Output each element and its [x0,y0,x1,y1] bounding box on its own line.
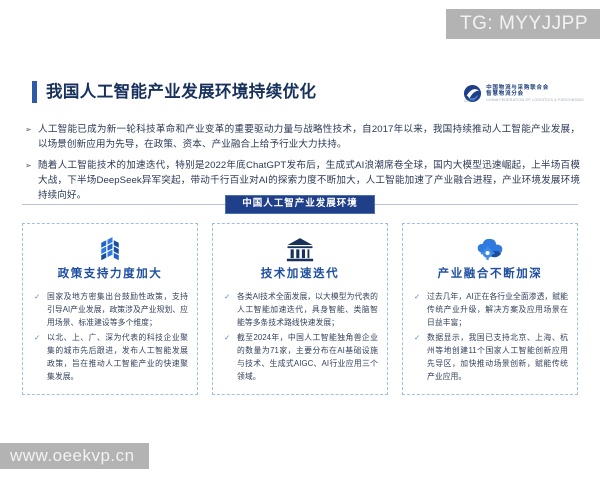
card-bullet-item: ✓ 各类AI技术全面发展，以大模型为代表的人工智能加速迭代，具身智能、类脑智能等… [222,290,378,329]
logo-line-2: 智慧物流分会 [486,91,584,97]
card-bullet-item: ✓ 国家及地方密集出台鼓励性政策，支持引导AI产业发展，政策涉及产业规划、应用场… [32,290,188,329]
watermark-top-right: TG: MYYJJPP [446,9,600,39]
card-bullet-text: 国家及地方密集出台鼓励性政策，支持引导AI产业发展，政策涉及产业规划、应用场景、… [47,290,188,329]
card-industry-integration: 产业融合不断加深 ✓ 过去几年，AI正在各行业全面渗透，赋能传统产业升级，解决方… [402,223,578,395]
title-accent-bar [32,81,37,103]
cloud-gear-icon [474,234,506,264]
slide-header: 我国人工智能产业发展环境持续优化 [32,81,316,103]
card-row: 政策支持力度加大 ✓ 国家及地方密集出台鼓励性政策，支持引导AI产业发展，政策涉… [22,223,578,395]
card-bullet-list: ✓ 各类AI技术全面发展，以大模型为代表的人工智能加速迭代，具身智能、类脑智能等… [222,290,378,387]
card-bullet-item: ✓ 数据显示，我国已支持北京、上海、杭州等地创建11个国家人工智能创新应用先导区… [412,331,568,383]
bullet-arrow-icon: ➢ [24,158,38,173]
rubiks-cube-icon [95,234,125,264]
page-title: 我国人工智能产业发展环境持续优化 [46,84,316,101]
watermark-bottom-left: www.oeekvp.cn [0,443,149,469]
slide-canvas: 我国人工智能产业发展环境持续优化 中国物流与采购联合会 智慧物流分会 CHINA… [0,0,600,480]
logo-abbreviation: CFLP [464,99,475,103]
card-bullet-text: 过去几年，AI正在各行业全面渗透，赋能传统产业升级，解决方案及应用场景在日益丰富… [427,290,568,329]
card-bullet-list: ✓ 国家及地方密集出台鼓励性政策，支持引导AI产业发展，政策涉及产业规划、应用场… [32,290,188,387]
bank-building-icon [285,234,315,264]
card-bullet-list: ✓ 过去几年，AI正在各行业全面渗透，赋能传统产业升级，解决方案及应用场景在日益… [412,290,568,387]
card-bullet-item: ✓ 以北、上、广、深为代表的科技企业聚集的城市先后跟进，发布人工智能发展政策，旨… [32,331,188,383]
check-icon: ✓ [412,331,427,344]
banner-rule-right [375,204,578,205]
card-title: 产业融合不断加深 [438,269,543,281]
check-icon: ✓ [32,331,47,344]
logo-text-block: 中国物流与采购联合会 智慧物流分会 CHINA FEDERATION OF LO… [486,85,584,103]
check-icon: ✓ [222,290,237,303]
card-title: 政策支持力度加大 [58,269,163,281]
check-icon: ✓ [222,331,237,344]
card-bullet-text: 截至2024年，中国人工智能独角兽企业的数量为71家，主要分布在AI基础设施与技… [237,331,378,383]
card-title: 技术加速迭代 [261,269,340,281]
card-bullet-text: 各类AI技术全面发展，以大模型为代表的人工智能加速迭代，具身智能、类脑智能等多条… [237,290,378,329]
card-bullet-item: ✓ 过去几年，AI正在各行业全面渗透，赋能传统产业升级，解决方案及应用场景在日益… [412,290,568,329]
check-icon: ✓ [412,290,427,303]
section-banner: 中国人工智产业发展环境 [0,195,600,214]
intro-bullet-item: ➢ 人工智能已成为新一轮科技革命和产业变革的重要驱动力量与战略性技术，自2017… [24,122,580,152]
logo-line-3: CHINA FEDERATION OF LOGISTICS & PURCHASI… [486,98,584,102]
card-bullet-text: 以北、上、广、深为代表的科技企业聚集的城市先后跟进，发布人工智能发展政策，旨在推… [47,331,188,383]
check-icon: ✓ [32,290,47,303]
banner-rule-left [22,204,225,205]
card-tech-iteration: 技术加速迭代 ✓ 各类AI技术全面发展，以大模型为代表的人工智能加速迭代，具身智… [212,223,388,395]
card-bullet-item: ✓ 截至2024年，中国人工智能独角兽企业的数量为71家，主要分布在AI基础设施… [222,331,378,383]
card-bullet-text: 数据显示，我国已支持北京、上海、杭州等地创建11个国家人工智能创新应用先导区，加… [427,331,568,383]
intro-paragraph: 人工智能已成为新一轮科技革命和产业变革的重要驱动力量与战略性技术，自2017年以… [38,122,580,152]
banner-label: 中国人工智产业发展环境 [225,195,375,214]
card-policy-support: 政策支持力度加大 ✓ 国家及地方密集出台鼓励性政策，支持引导AI产业发展，政策涉… [22,223,198,395]
organization-logo: 中国物流与采购联合会 智慧物流分会 CHINA FEDERATION OF LO… [463,84,584,103]
bullet-arrow-icon: ➢ [24,122,38,137]
